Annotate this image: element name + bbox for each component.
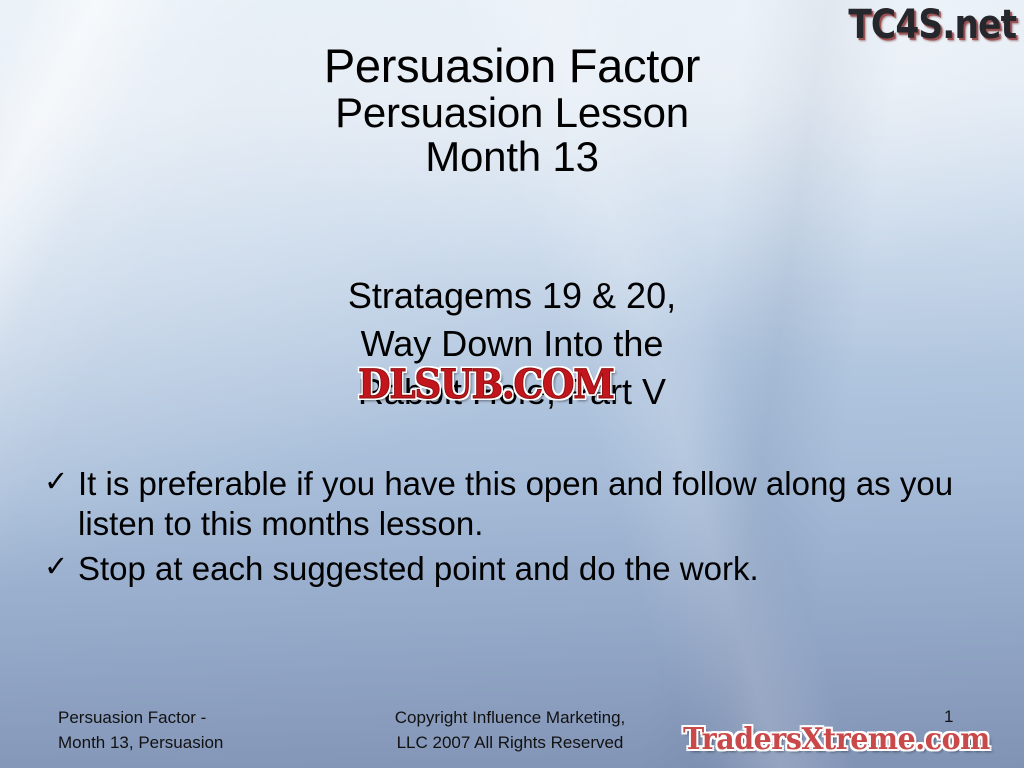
list-item-text: It is preferable if you have this open a… [78, 464, 974, 545]
copyright-line-2: LLC 2007 All Rights Reserved [360, 731, 660, 756]
title-line-1: Persuasion Factor [0, 42, 1024, 91]
footer-left-line-2: Month 13, Persuasion [58, 731, 223, 756]
checkmark-icon: ✓ [44, 549, 78, 587]
copyright-line-1: Copyright Influence Marketing, [360, 706, 660, 731]
slide-canvas: TC4S.net Persuasion Factor Persuasion Le… [0, 0, 1024, 768]
list-item-text: Stop at each suggested point and do the … [78, 549, 974, 589]
list-item: ✓ It is preferable if you have this open… [44, 464, 974, 545]
subtitle-line-1: Stratagems 19 & 20, [0, 272, 1024, 320]
bullet-list: ✓ It is preferable if you have this open… [44, 464, 974, 593]
footer-left-line-1: Persuasion Factor - [58, 706, 223, 731]
list-item: ✓ Stop at each suggested point and do th… [44, 549, 974, 589]
title-line-2: Persuasion Lesson [0, 91, 1024, 135]
checkmark-icon: ✓ [44, 464, 78, 502]
tradersxtreme-logo: TradersXtreme.com [683, 722, 990, 757]
title-line-3: Month 13 [0, 135, 1024, 179]
footer-copyright: Copyright Influence Marketing, LLC 2007 … [360, 706, 660, 755]
footer-left: Persuasion Factor - Month 13, Persuasion [58, 706, 223, 755]
dlsub-watermark: DLSUB.COM [358, 361, 613, 408]
page-title: Persuasion Factor Persuasion Lesson Mont… [0, 42, 1024, 178]
